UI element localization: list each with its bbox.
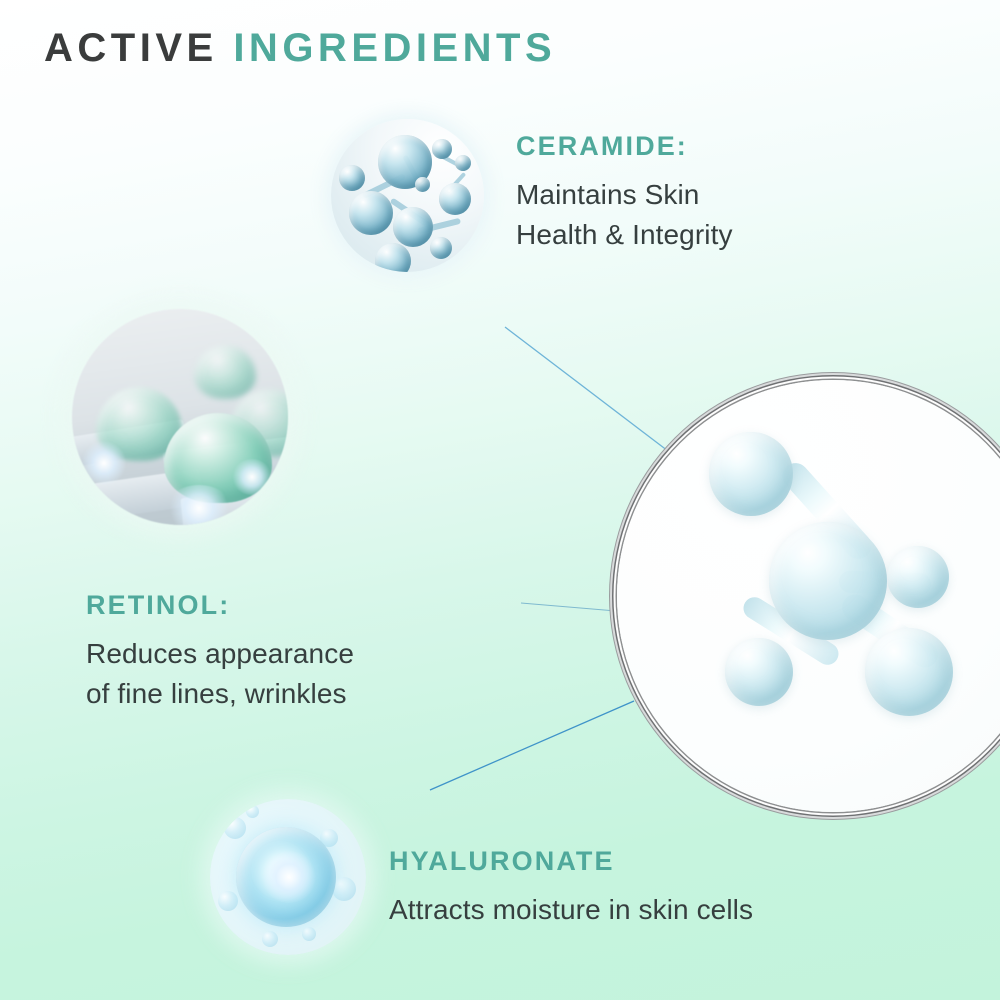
ceramide-image <box>331 119 484 272</box>
hero-sphere-bottom-left <box>725 638 793 706</box>
ceramide-description-line-2: Health & Integrity <box>516 215 846 255</box>
hyaluronate-description: Attracts moisture in skin cells <box>389 890 849 930</box>
hyaluronate-label: HYALURONATE <box>389 848 615 875</box>
title-word-active: ACTIVE <box>44 26 218 70</box>
hero-molecule-circle <box>617 380 1000 812</box>
retinol-description-line-2: of fine lines, wrinkles <box>86 674 486 714</box>
connector-retinol <box>521 603 628 612</box>
ceramide-label: CERAMIDE: <box>516 133 688 160</box>
page-title: ACTIVE INGREDIENTS <box>44 28 556 68</box>
hyaluronate-description-line-1: Attracts moisture in skin cells <box>389 890 849 930</box>
connector-ceramide <box>505 327 668 451</box>
hero-sphere-right <box>887 546 949 608</box>
hero-sphere-bottom-right <box>865 628 953 716</box>
hyaluronate-image <box>210 799 366 955</box>
hero-sphere-top-left <box>709 432 793 516</box>
retinol-description-line-1: Reduces appearance <box>86 634 486 674</box>
retinol-description: Reduces appearance of fine lines, wrinkl… <box>86 634 486 714</box>
ceramide-description: Maintains Skin Health & Integrity <box>516 175 846 255</box>
ceramide-description-line-1: Maintains Skin <box>516 175 846 215</box>
connector-hyaluronate <box>430 701 634 790</box>
hero-sphere-center <box>769 522 887 640</box>
retinol-image <box>72 309 288 525</box>
retinol-label: RETINOL: <box>86 592 230 619</box>
infographic-poster: ACTIVE INGREDIENTS <box>0 0 1000 1000</box>
title-word-ingredients: INGREDIENTS <box>233 26 556 70</box>
